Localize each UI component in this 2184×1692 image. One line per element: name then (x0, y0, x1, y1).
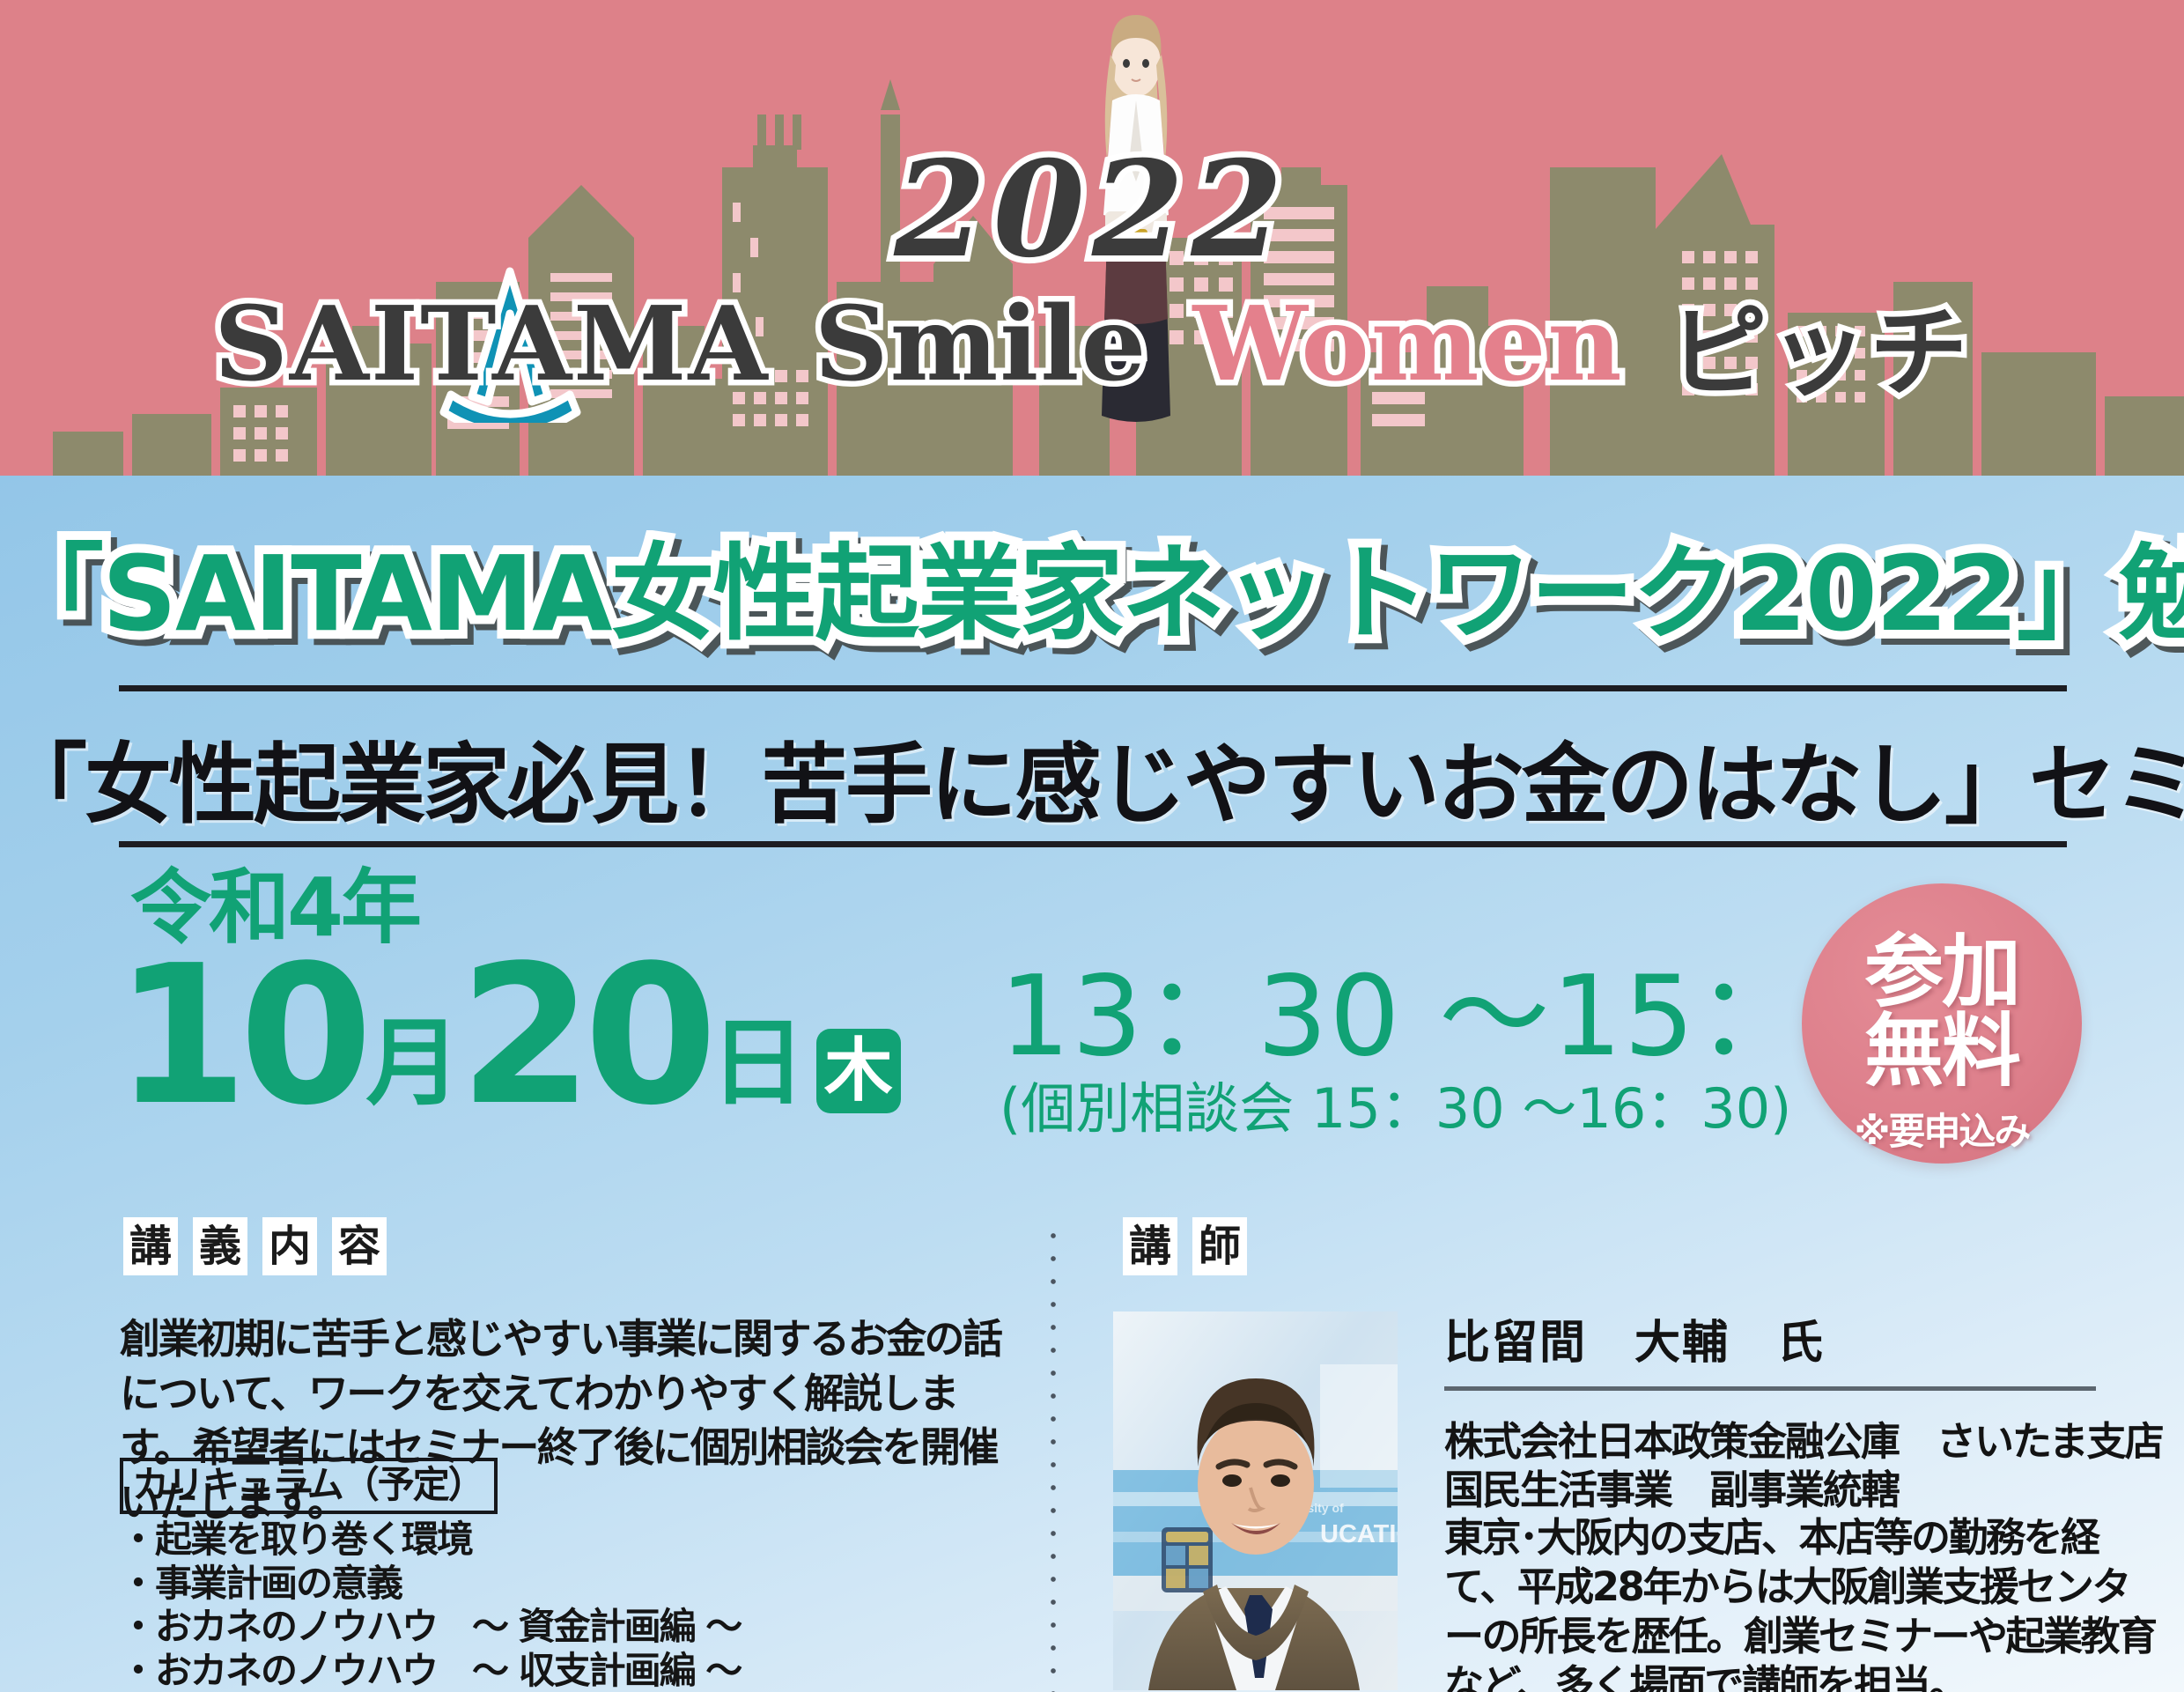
vertical-dotted-divider (1051, 1224, 1056, 1692)
event-date: 令和4年 10 月 20 日 木 (114, 868, 901, 1119)
logo-wordmark: SAITAMA Smile Women ピッチ (0, 273, 2184, 416)
lecture-content-heading: 講 義 内 容 (123, 1217, 387, 1275)
day-number: 20 (459, 954, 708, 1119)
divider-bottom (119, 841, 2067, 847)
list-item: ・おカネのノウハウ 〜 資金計画編 〜 (120, 1605, 1018, 1649)
list-item: ・おカネのノウハウ 〜 収支計画編 〜 (120, 1649, 1018, 1692)
badge-note: ※要申込み (1802, 1102, 2082, 1156)
speaker-bio: 東京･大阪内の支店、本店等の勤務を経て、平成28年からは大阪創業支援センターの所… (1444, 1513, 2166, 1692)
page-subtitle: 「女性起業家必見！苦手に感じやすいお金のはなし」セミナー (0, 713, 2184, 840)
curriculum-list: ・起業を取り巻く環境 ・事業計画の意義 ・おカネのノウハウ 〜 資金計画編 〜 … (120, 1518, 1018, 1692)
speaker-name: 比留間 大輔 氏 (1444, 1305, 1825, 1371)
heading-char: 講 (1123, 1217, 1177, 1275)
header-banner: 2022 SAITAMA Smile Women ピッチ (0, 0, 2184, 476)
badge-line-1: 参加 (1802, 883, 2082, 1012)
divider-top (119, 685, 2067, 691)
list-item: ・事業計画の意義 (120, 1562, 1018, 1606)
heading-char: 講 (123, 1217, 178, 1275)
logo-pitch: ピッチ (1669, 296, 1970, 410)
speaker-divider (1444, 1386, 2096, 1391)
heading-char: 容 (332, 1217, 387, 1275)
curriculum-label: カリキュラム（予定） (120, 1458, 498, 1514)
speaker-photo: UCATION rsity of (1113, 1311, 1398, 1690)
logo-saitama: SAITAMA (214, 284, 769, 404)
list-item: ・起業を取り巻く環境 (120, 1518, 1018, 1562)
free-admission-badge: 参加 無料 ※要申込み (1802, 883, 2082, 1164)
page-title: 「SAITAMA女性起業家ネットワーク2022」勉強会 (0, 509, 2184, 660)
month-unit: 月 (365, 1016, 459, 1119)
event-logo: 2022 SAITAMA Smile Women ピッチ (0, 132, 2184, 423)
svg-text:UCATION: UCATION (1320, 1520, 1398, 1548)
affiliation-line-1: 株式会社日本政策金融公庫 さいたま支店 (1444, 1418, 2149, 1467)
date-row: 10 月 20 日 木 (114, 954, 901, 1119)
logo-women: Women (1193, 284, 1624, 404)
speaker-affiliation: 株式会社日本政策金融公庫 さいたま支店 国民生活事業 副事業統轄 (1444, 1418, 2149, 1515)
heading-char: 師 (1192, 1217, 1247, 1275)
logo-year: 2022 (0, 132, 2184, 287)
affiliation-line-2: 国民生活事業 副事業統轄 (1444, 1467, 2149, 1515)
logo-smile: Smile (815, 284, 1147, 404)
speaker-portrait-image: UCATION rsity of (1113, 1311, 1398, 1690)
day-of-week-badge: 木 (816, 1029, 901, 1113)
seminar-flyer: 2022 SAITAMA Smile Women ピッチ 「SAITAMA女性起… (0, 0, 2184, 1692)
heading-char: 義 (193, 1217, 247, 1275)
day-unit: 日 (711, 1016, 804, 1119)
heading-char: 内 (262, 1217, 317, 1275)
speaker-heading: 講 師 (1123, 1217, 1247, 1275)
month-number: 10 (114, 954, 364, 1119)
badge-line-2: 無料 (1802, 1012, 2082, 1091)
